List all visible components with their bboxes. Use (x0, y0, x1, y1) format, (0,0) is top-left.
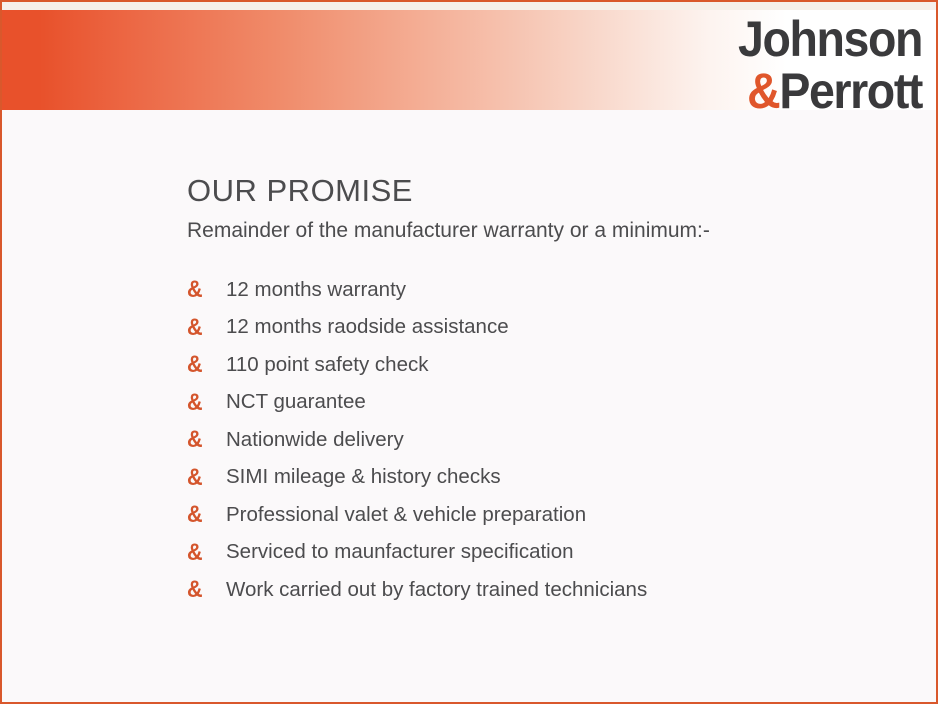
list-item-label: Nationwide delivery (226, 428, 404, 453)
list-item: & Work carried out by factory trained te… (187, 571, 916, 609)
list-item: & 12 months warranty (187, 271, 916, 309)
promise-content: OUR PROMISE Remainder of the manufacture… (187, 174, 916, 609)
promise-page: Johnson &Perrott OUR PROMISE Remainder o… (0, 0, 938, 704)
list-item: & Serviced to maunfacturer specification (187, 534, 916, 572)
logo-ampersand-icon: & (747, 63, 779, 119)
list-item: & 12 months raodside assistance (187, 309, 916, 347)
list-item: & Nationwide delivery (187, 421, 916, 459)
ampersand-bullet-icon: & (187, 466, 222, 490)
ampersand-bullet-icon: & (187, 541, 222, 565)
ampersand-bullet-icon: & (187, 316, 222, 340)
promise-list: & 12 months warranty & 12 months raodsid… (187, 271, 916, 609)
list-item: & SIMI mileage & history checks (187, 459, 916, 497)
list-item-label: Work carried out by factory trained tech… (226, 578, 647, 603)
list-item: & NCT guarantee (187, 384, 916, 422)
page-subtitle: Remainder of the manufacturer warranty o… (187, 218, 916, 243)
list-item-label: 110 point safety check (226, 353, 428, 378)
list-item-label: Professional valet & vehicle preparation (226, 503, 586, 528)
logo-perrott-text: Perrott (779, 63, 922, 119)
ampersand-bullet-icon: & (187, 503, 222, 527)
logo-line-perrott: &Perrott (706, 64, 922, 116)
top-accent-strip (2, 2, 936, 10)
list-item-label: Serviced to maunfacturer specification (226, 540, 574, 565)
ampersand-bullet-icon: & (187, 428, 222, 452)
list-item-label: SIMI mileage & history checks (226, 465, 501, 490)
ampersand-bullet-icon: & (187, 353, 222, 377)
list-item-label: NCT guarantee (226, 390, 366, 415)
list-item: & Professional valet & vehicle preparati… (187, 496, 916, 534)
ampersand-bullet-icon: & (187, 391, 222, 415)
ampersand-bullet-icon: & (187, 578, 222, 602)
list-item: & 110 point safety check (187, 346, 916, 384)
johnson-perrott-logo: Johnson &Perrott (690, 10, 922, 108)
page-title: OUR PROMISE (187, 174, 916, 208)
logo-line-johnson: Johnson (706, 10, 922, 64)
list-item-label: 12 months warranty (226, 278, 406, 303)
list-item-label: 12 months raodside assistance (226, 315, 509, 340)
ampersand-bullet-icon: & (187, 278, 222, 302)
